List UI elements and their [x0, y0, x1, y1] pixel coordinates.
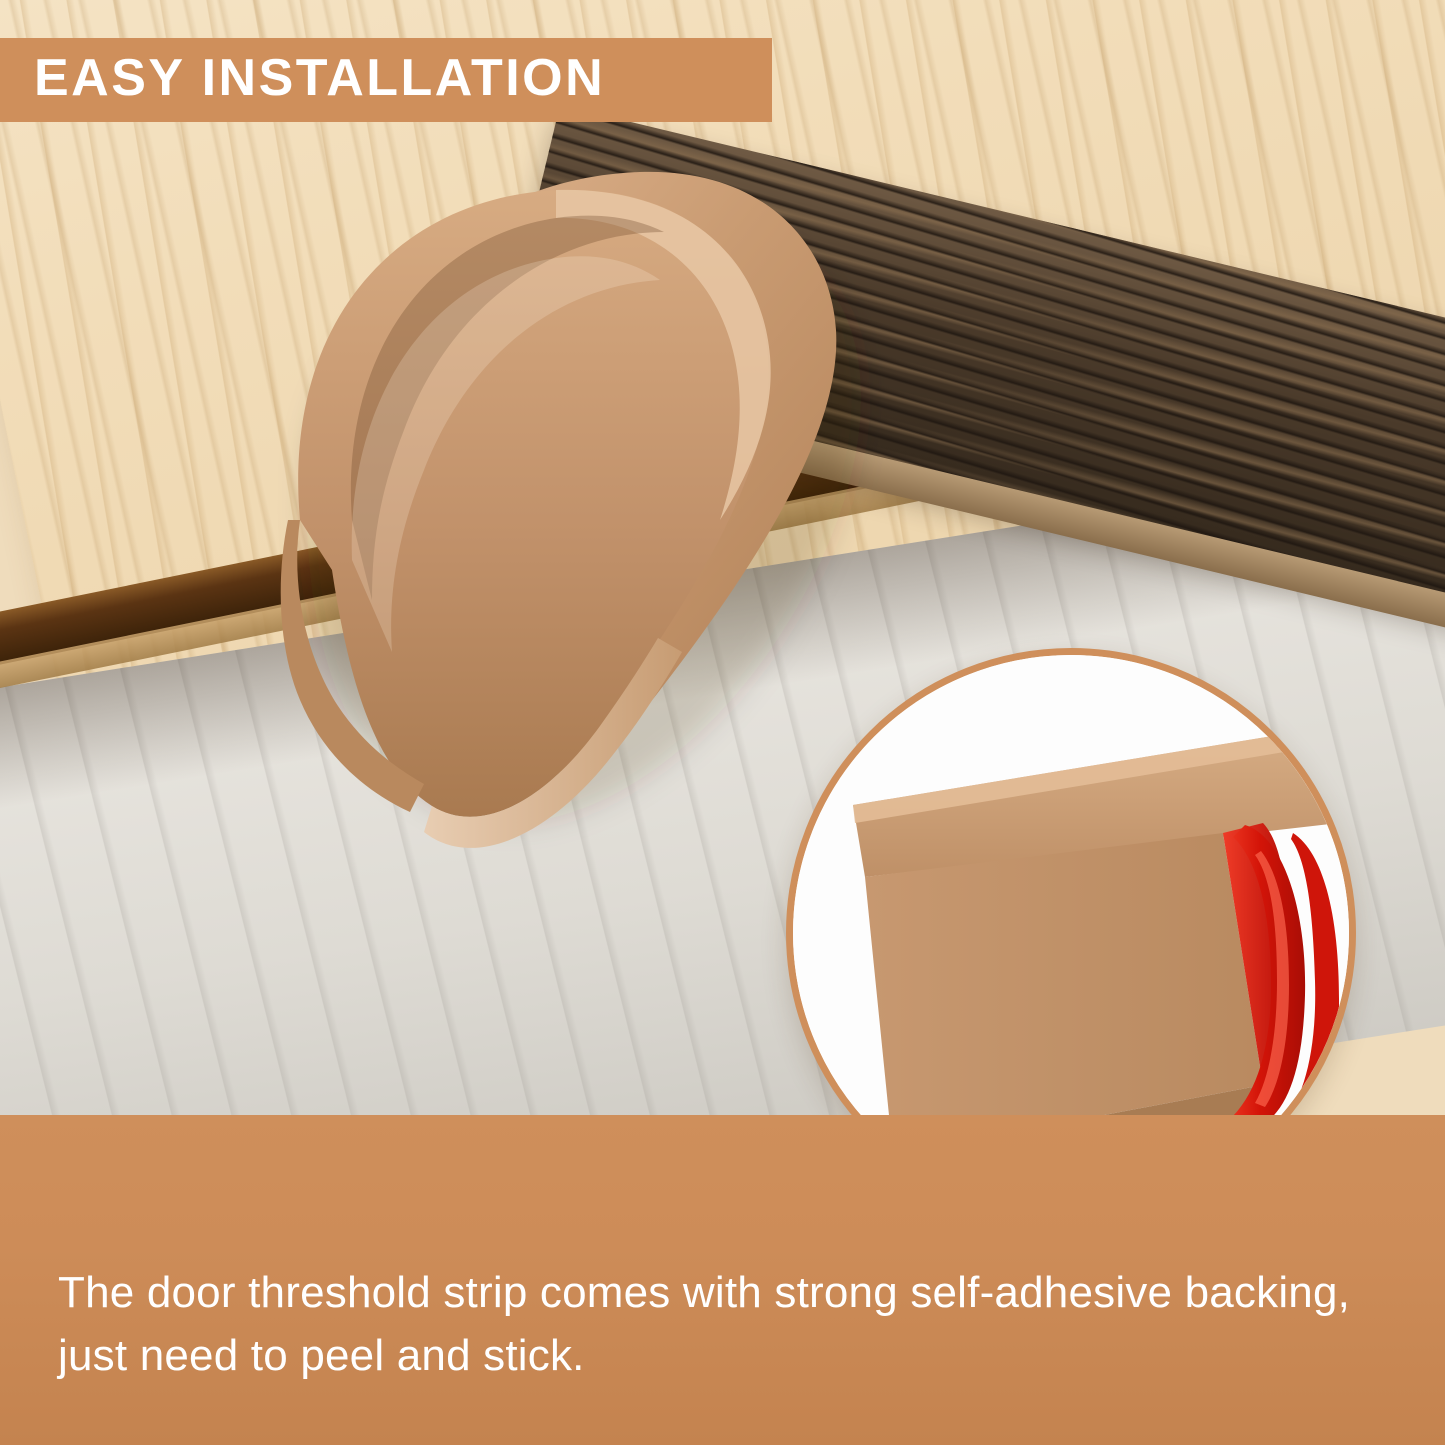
product-infographic: EASY INSTALLATION The door threshold str…	[0, 0, 1445, 1445]
bottom-band: The door threshold strip comes with stro…	[0, 1115, 1445, 1445]
caption-text: The door threshold strip comes with stro…	[58, 1262, 1395, 1387]
inset-illustration	[793, 655, 1339, 1175]
header-ribbon: EASY INSTALLATION	[0, 38, 772, 122]
closeup-inset	[786, 648, 1356, 1175]
header-ribbon-label: EASY INSTALLATION	[34, 52, 734, 104]
main-product-photo	[0, 0, 1445, 1175]
